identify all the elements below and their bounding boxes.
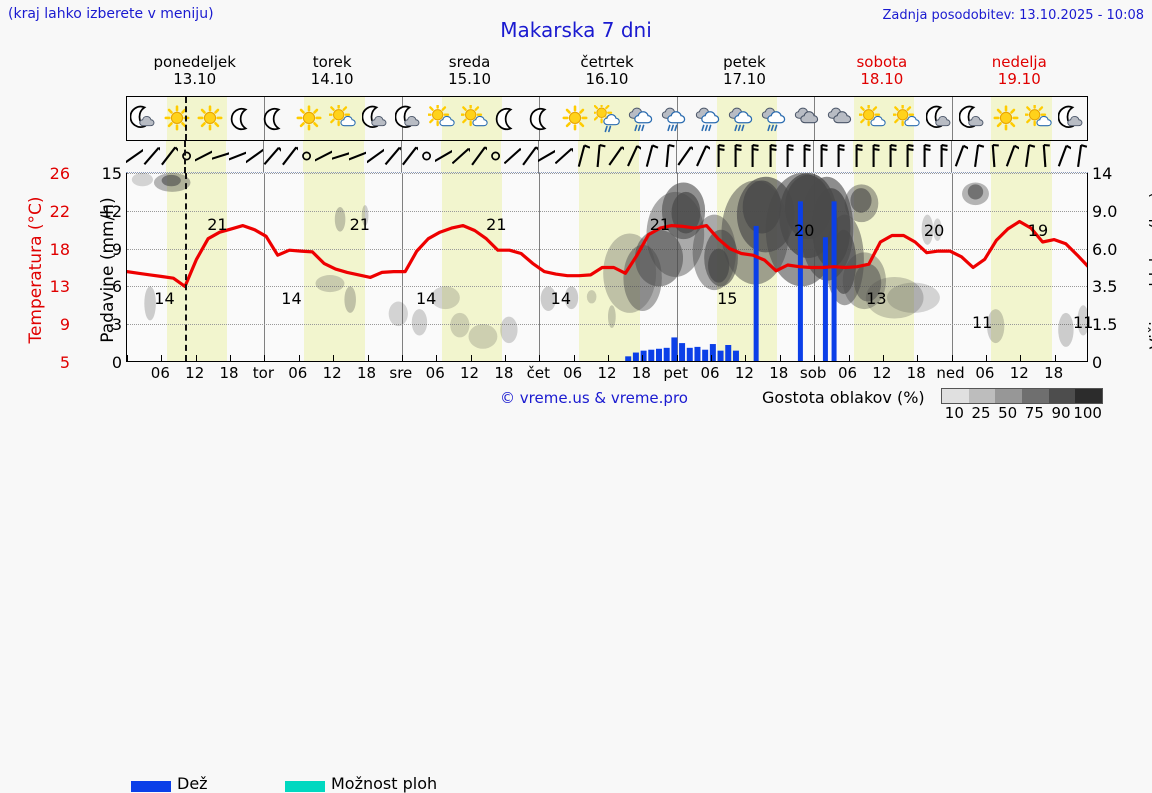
cloud-rain-icon	[757, 97, 790, 140]
wind-barb	[727, 143, 744, 169]
day-header-torek: torek14.10	[263, 54, 400, 88]
cloud-density-legend-label: Gostota oblakov (%)	[762, 388, 925, 407]
day-date: 16.10	[538, 71, 675, 88]
x-tick	[849, 355, 850, 361]
cloud-density-blob	[132, 173, 153, 186]
cloud-height-tick: 9.0	[1092, 202, 1132, 221]
wind-barb	[521, 143, 538, 169]
x-axis-label: 12	[735, 364, 754, 382]
cloud-density-blob	[500, 317, 517, 343]
x-tick	[436, 355, 437, 361]
cloud-height-axis-label: Višina oblakov (km)	[1146, 168, 1152, 373]
cloud-height-tick: 3.5	[1092, 277, 1132, 296]
x-tick	[1020, 355, 1021, 361]
x-tick	[952, 355, 953, 361]
wind-barb	[796, 143, 813, 169]
x-tick	[711, 355, 712, 361]
cloud-density-swatch	[1075, 389, 1102, 403]
cloud-density-tick: 10	[945, 404, 964, 422]
x-axis-label: 12	[460, 364, 479, 382]
x-tick	[1055, 355, 1056, 361]
x-tick	[677, 355, 678, 361]
day-name: torek	[263, 54, 400, 71]
temperature-tick: 13	[26, 277, 70, 296]
wind-barb	[659, 143, 676, 169]
temperature-tick: 26	[26, 164, 70, 183]
x-axis-label: 12	[185, 364, 204, 382]
temperature-value-label: 21	[350, 215, 370, 234]
day-date: 17.10	[676, 71, 813, 88]
wind-barb	[710, 143, 727, 169]
temperature-value-label: 20	[924, 221, 944, 240]
wind-barb	[418, 143, 435, 169]
cloud-rain-icon	[724, 97, 757, 140]
wind-barb	[624, 143, 641, 169]
x-axis-label: 06	[288, 364, 307, 382]
wind-barb	[452, 143, 469, 169]
x-axis-label: 06	[701, 364, 720, 382]
precipitation-bar	[823, 237, 828, 362]
precipitation-tick: 6	[96, 277, 122, 296]
x-axis-label: 18	[769, 364, 788, 382]
temperature-value-label: 11	[972, 313, 992, 332]
wind-barb	[195, 143, 212, 169]
temperature-value-label: 14	[416, 289, 436, 308]
day-header-sreda: sreda15.10	[401, 54, 538, 88]
wind-barb	[985, 143, 1002, 169]
x-axis-label: 18	[357, 364, 376, 382]
cloud-density-tick: 50	[998, 404, 1017, 422]
cloud-height-tick: 14	[1092, 164, 1132, 183]
temperature-value-label: 15	[717, 289, 737, 308]
x-tick	[780, 355, 781, 361]
wind-barb	[538, 143, 555, 169]
x-axis-label: 06	[563, 364, 582, 382]
temperature-value-label: 14	[154, 289, 174, 308]
wind-barb	[470, 143, 487, 169]
moon-cloud-icon	[359, 97, 392, 140]
rain-legend-swatch	[131, 781, 171, 792]
sun-icon	[558, 97, 591, 140]
day-date: 14.10	[263, 71, 400, 88]
x-tick	[608, 355, 609, 361]
wind-barb	[555, 143, 572, 169]
wind-barb	[762, 143, 779, 169]
precipitation-tick: 15	[96, 164, 122, 183]
moon-cloud-icon	[1056, 97, 1089, 140]
x-tick	[986, 355, 987, 361]
precipitation-tick: 0	[96, 353, 122, 372]
showers-legend-label: Možnost ploh	[331, 774, 437, 793]
cloud-density-swatch	[1022, 389, 1049, 403]
x-tick	[127, 355, 128, 361]
precipitation-bar	[832, 201, 837, 362]
wind-barb	[916, 143, 933, 169]
precipitation-axis-title: Padavine (mm/h)	[78, 170, 102, 370]
x-axis-label: ned	[936, 364, 964, 382]
day-header-četrtek: četrtek16.10	[538, 54, 675, 88]
x-axis-label: 12	[1010, 364, 1029, 382]
x-axis-label: 06	[975, 364, 994, 382]
cloud-density-blob	[587, 290, 597, 303]
wind-barb	[899, 143, 916, 169]
wind-barb	[968, 143, 985, 169]
sun-cloud-icon	[1023, 97, 1056, 140]
cloud-density-blob	[412, 309, 427, 335]
wind-barb	[178, 143, 195, 169]
day-name: nedelja	[951, 54, 1088, 71]
cloud-density-blob	[316, 275, 345, 292]
temperature-tick: 18	[26, 240, 70, 259]
sun-cloud-icon	[890, 97, 923, 140]
wind-barb	[848, 143, 865, 169]
x-tick	[745, 355, 746, 361]
day-date: 19.10	[951, 71, 1088, 88]
temperature-value-label: 14	[281, 289, 301, 308]
wind-barb	[573, 143, 590, 169]
temperature-value-label: 19	[1028, 221, 1048, 240]
day-header-sobota: sobota18.10	[813, 54, 950, 88]
x-tick	[883, 355, 884, 361]
sun-cloud-rain-icon	[591, 97, 624, 140]
cloud-icon	[824, 97, 857, 140]
day-header-petek: petek17.10	[676, 54, 813, 88]
sun-cloud-icon	[326, 97, 359, 140]
cloud-height-tick: 1.5	[1092, 315, 1132, 334]
x-axis-label: sre	[389, 364, 412, 382]
wind-barb	[263, 143, 280, 169]
x-axis-label: tor	[253, 364, 274, 382]
meteogram-chart	[126, 173, 1088, 362]
wind-barb	[229, 143, 246, 169]
temperature-tick: 9	[26, 315, 70, 334]
wind-barb	[401, 143, 418, 169]
wind-barb	[865, 143, 882, 169]
wind-barb	[607, 143, 624, 169]
wind-barb	[349, 143, 366, 169]
cloud-density-blob	[968, 184, 983, 199]
current-time-marker	[185, 173, 187, 361]
wind-barb	[1071, 143, 1088, 169]
precipitation-tick: 12	[96, 202, 122, 221]
wind-barb	[676, 143, 693, 169]
x-axis-label: 06	[426, 364, 445, 382]
x-tick	[814, 355, 815, 361]
temperature-tick: 22	[26, 202, 70, 221]
day-name: petek	[676, 54, 813, 71]
x-axis-label: čet	[527, 364, 550, 382]
chart-svg	[127, 173, 1088, 362]
moon-cloud-icon	[392, 97, 425, 140]
x-tick	[917, 355, 918, 361]
cloud-density-blob	[335, 207, 346, 232]
current-time-marker	[184, 141, 186, 173]
day-name: ponedeljek	[126, 54, 263, 71]
cloud-density-swatch	[1049, 389, 1076, 403]
x-tick	[333, 355, 334, 361]
x-axis-label: 12	[323, 364, 342, 382]
wind-barb	[126, 143, 143, 169]
x-axis-label: 06	[151, 364, 170, 382]
x-tick	[196, 355, 197, 361]
x-tick	[161, 355, 162, 361]
moon-icon	[260, 97, 293, 140]
day-name: sreda	[401, 54, 538, 71]
wind-barb	[143, 143, 160, 169]
moon-icon	[492, 97, 525, 140]
wind-barb	[590, 143, 607, 169]
x-tick	[505, 355, 506, 361]
cloud-rain-icon	[625, 97, 658, 140]
wind-barb	[641, 143, 658, 169]
cloud-density-swatch	[969, 389, 996, 403]
current-time-marker	[185, 97, 187, 140]
wind-barb	[1054, 143, 1071, 169]
temperature-value-label: 11	[1073, 313, 1093, 332]
cloud-density-blob	[162, 175, 181, 186]
x-axis-ticks	[127, 353, 1087, 361]
wind-barb	[212, 143, 229, 169]
sun-cloud-icon	[459, 97, 492, 140]
x-tick	[402, 355, 403, 361]
x-axis-label: 18	[220, 364, 239, 382]
cloud-density-swatch	[995, 389, 1022, 403]
wind-barb	[367, 143, 384, 169]
wind-barb	[332, 143, 349, 169]
copyright-link[interactable]: © vreme.us & vreme.pro	[500, 389, 688, 407]
temperature-axis-title: Temperatura (°C)	[4, 170, 30, 370]
day-name: četrtek	[538, 54, 675, 71]
wind-barb-strip	[126, 141, 1088, 173]
x-axis-label: 06	[838, 364, 857, 382]
day-header-nedelja: nedelja19.10	[951, 54, 1088, 88]
x-axis-label: 12	[597, 364, 616, 382]
cloud-rain-icon	[691, 97, 724, 140]
cloud-density-tick: 25	[971, 404, 990, 422]
x-axis-label: 18	[1044, 364, 1063, 382]
x-tick	[299, 355, 300, 361]
x-axis-label: 18	[907, 364, 926, 382]
cloud-density-swatch	[942, 389, 969, 403]
precipitation-tick: 9	[96, 240, 122, 259]
x-tick	[539, 355, 540, 361]
cloud-density-tick: 75	[1025, 404, 1044, 422]
wind-barb	[246, 143, 263, 169]
wind-barb	[882, 143, 899, 169]
cloud-density-blob	[887, 283, 940, 313]
rain-legend-label: Dež	[177, 774, 208, 793]
sun-icon	[193, 97, 226, 140]
wind-barb	[384, 143, 401, 169]
showers-legend-swatch	[285, 781, 325, 792]
temperature-value-label: 21	[207, 215, 227, 234]
wind-barb	[830, 143, 847, 169]
wind-barb	[813, 143, 830, 169]
x-tick	[264, 355, 265, 361]
moon-cloud-icon	[956, 97, 989, 140]
x-tick	[574, 355, 575, 361]
wind-barb	[315, 143, 332, 169]
temperature-value-label: 21	[650, 215, 670, 234]
day-date: 13.10	[126, 71, 263, 88]
moon-cloud-icon	[923, 97, 956, 140]
wind-barb	[779, 143, 796, 169]
wind-barb	[693, 143, 710, 169]
wind-barb	[1019, 143, 1036, 169]
cloud-density-blob	[344, 286, 356, 312]
x-tick	[642, 355, 643, 361]
temperature-value-label: 14	[551, 289, 571, 308]
x-axis-label: sob	[800, 364, 827, 382]
wind-barb	[744, 143, 761, 169]
cloud-density-blob	[389, 302, 408, 327]
x-axis-label: 18	[632, 364, 651, 382]
wind-barb	[435, 143, 452, 169]
cloud-height-tick: 6.0	[1092, 240, 1132, 259]
temperature-value-label: 21	[486, 215, 506, 234]
day-header-ponedeljek: ponedeljek13.10	[126, 54, 263, 88]
wind-barb	[487, 143, 504, 169]
wind-barb	[951, 143, 968, 169]
precipitation-bar	[754, 226, 759, 362]
temperature-axis-label: Temperatura (°C)	[26, 170, 46, 370]
cloud-height-axis-title: Višina oblakov (km)	[1124, 168, 1150, 373]
wind-barb	[298, 143, 315, 169]
sun-icon	[160, 97, 193, 140]
wind-barb	[160, 143, 177, 169]
day-date: 15.10	[401, 71, 538, 88]
cloud-density-blob	[850, 188, 871, 213]
x-tick	[368, 355, 369, 361]
moon-icon	[525, 97, 558, 140]
x-tick	[230, 355, 231, 361]
cloud-rain-icon	[658, 97, 691, 140]
cloud-density-colorbar	[941, 388, 1103, 404]
wind-barb	[281, 143, 298, 169]
moon-icon	[227, 97, 260, 140]
cloud-density-blob	[1058, 313, 1073, 347]
temperature-value-label: 20	[794, 221, 814, 240]
precipitation-tick: 3	[96, 315, 122, 334]
day-date: 18.10	[813, 71, 950, 88]
sun-cloud-icon	[857, 97, 890, 140]
day-name: sobota	[813, 54, 950, 71]
cloud-density-tick: 100	[1073, 404, 1102, 422]
sun-cloud-icon	[426, 97, 459, 140]
cloud-height-tick: 0	[1092, 353, 1132, 372]
temperature-tick: 5	[26, 353, 70, 372]
wind-barb	[933, 143, 950, 169]
x-tick	[471, 355, 472, 361]
weather-icon-strip	[126, 96, 1088, 141]
sun-icon	[293, 97, 326, 140]
x-axis-label: 12	[872, 364, 891, 382]
wind-barb	[504, 143, 521, 169]
precipitation-axis-label: Padavine (mm/h)	[98, 170, 118, 370]
wind-barb	[1002, 143, 1019, 169]
x-axis-label: 18	[494, 364, 513, 382]
cloud-density-tick: 90	[1051, 404, 1070, 422]
x-axis-label: pet	[663, 364, 688, 382]
temperature-value-label: 13	[866, 289, 886, 308]
wind-barb	[1036, 143, 1053, 169]
cloud-icon	[790, 97, 823, 140]
last-updated-text: Zadnja posodobitev: 13.10.2025 - 10:08	[882, 8, 1144, 23]
moon-cloud-icon	[127, 97, 160, 140]
sun-icon	[989, 97, 1022, 140]
cloud-density-blob	[608, 305, 616, 328]
cloud-density-blob	[450, 313, 469, 338]
cloud-density-blob	[469, 324, 498, 349]
